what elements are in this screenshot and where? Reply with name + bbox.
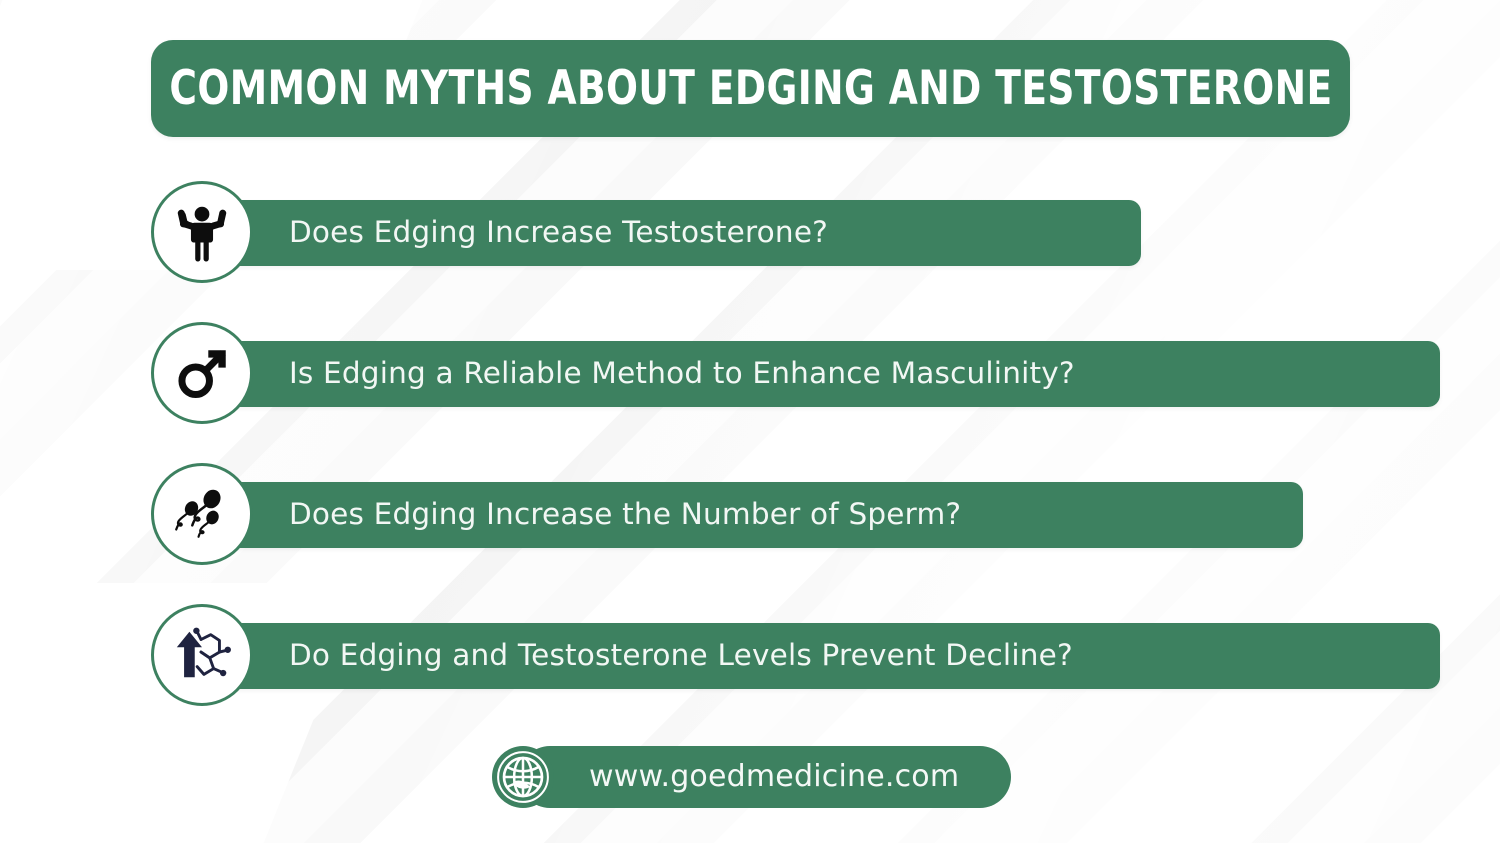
myth-label-3: Does Edging Increase the Number of Sperm…: [206, 500, 989, 530]
globe-icon-badge: [492, 746, 554, 808]
sperm-cells-icon: [170, 482, 234, 546]
myth-bar-2: Is Edging a Reliable Method to Enhance M…: [206, 341, 1440, 407]
infographic-poster: COMMON MYTHS ABOUT EDGING AND TESTOSTERO…: [0, 0, 1500, 843]
myth-bar-3: Does Edging Increase the Number of Sperm…: [206, 482, 1303, 548]
myth-icon-badge-2: [151, 322, 253, 424]
page-title: COMMON MYTHS ABOUT EDGING AND TESTOSTERO…: [169, 65, 1332, 112]
myth-icon-badge-3: [151, 463, 253, 565]
website-pill[interactable]: www.goedmedicine.com: [519, 746, 1011, 808]
myth-icon-badge-1: [151, 181, 253, 283]
website-url: www.goedmedicine.com: [519, 762, 959, 792]
myth-label-1: Does Edging Increase Testosterone?: [206, 218, 856, 248]
myth-label-2: Is Edging a Reliable Method to Enhance M…: [206, 359, 1103, 389]
male-mars-symbol-icon: [171, 342, 233, 404]
myth-bar-1: Does Edging Increase Testosterone?: [206, 200, 1141, 266]
molecule-up-arrow-icon: [171, 624, 233, 686]
myth-bar-4: Do Edging and Testosterone Levels Preven…: [206, 623, 1440, 689]
myth-label-4: Do Edging and Testosterone Levels Preven…: [206, 641, 1101, 671]
page-title-banner: COMMON MYTHS ABOUT EDGING AND TESTOSTERO…: [151, 40, 1350, 137]
strongman-flex-icon: [171, 201, 233, 263]
globe-icon: [496, 750, 550, 804]
myth-icon-badge-4: [151, 604, 253, 706]
